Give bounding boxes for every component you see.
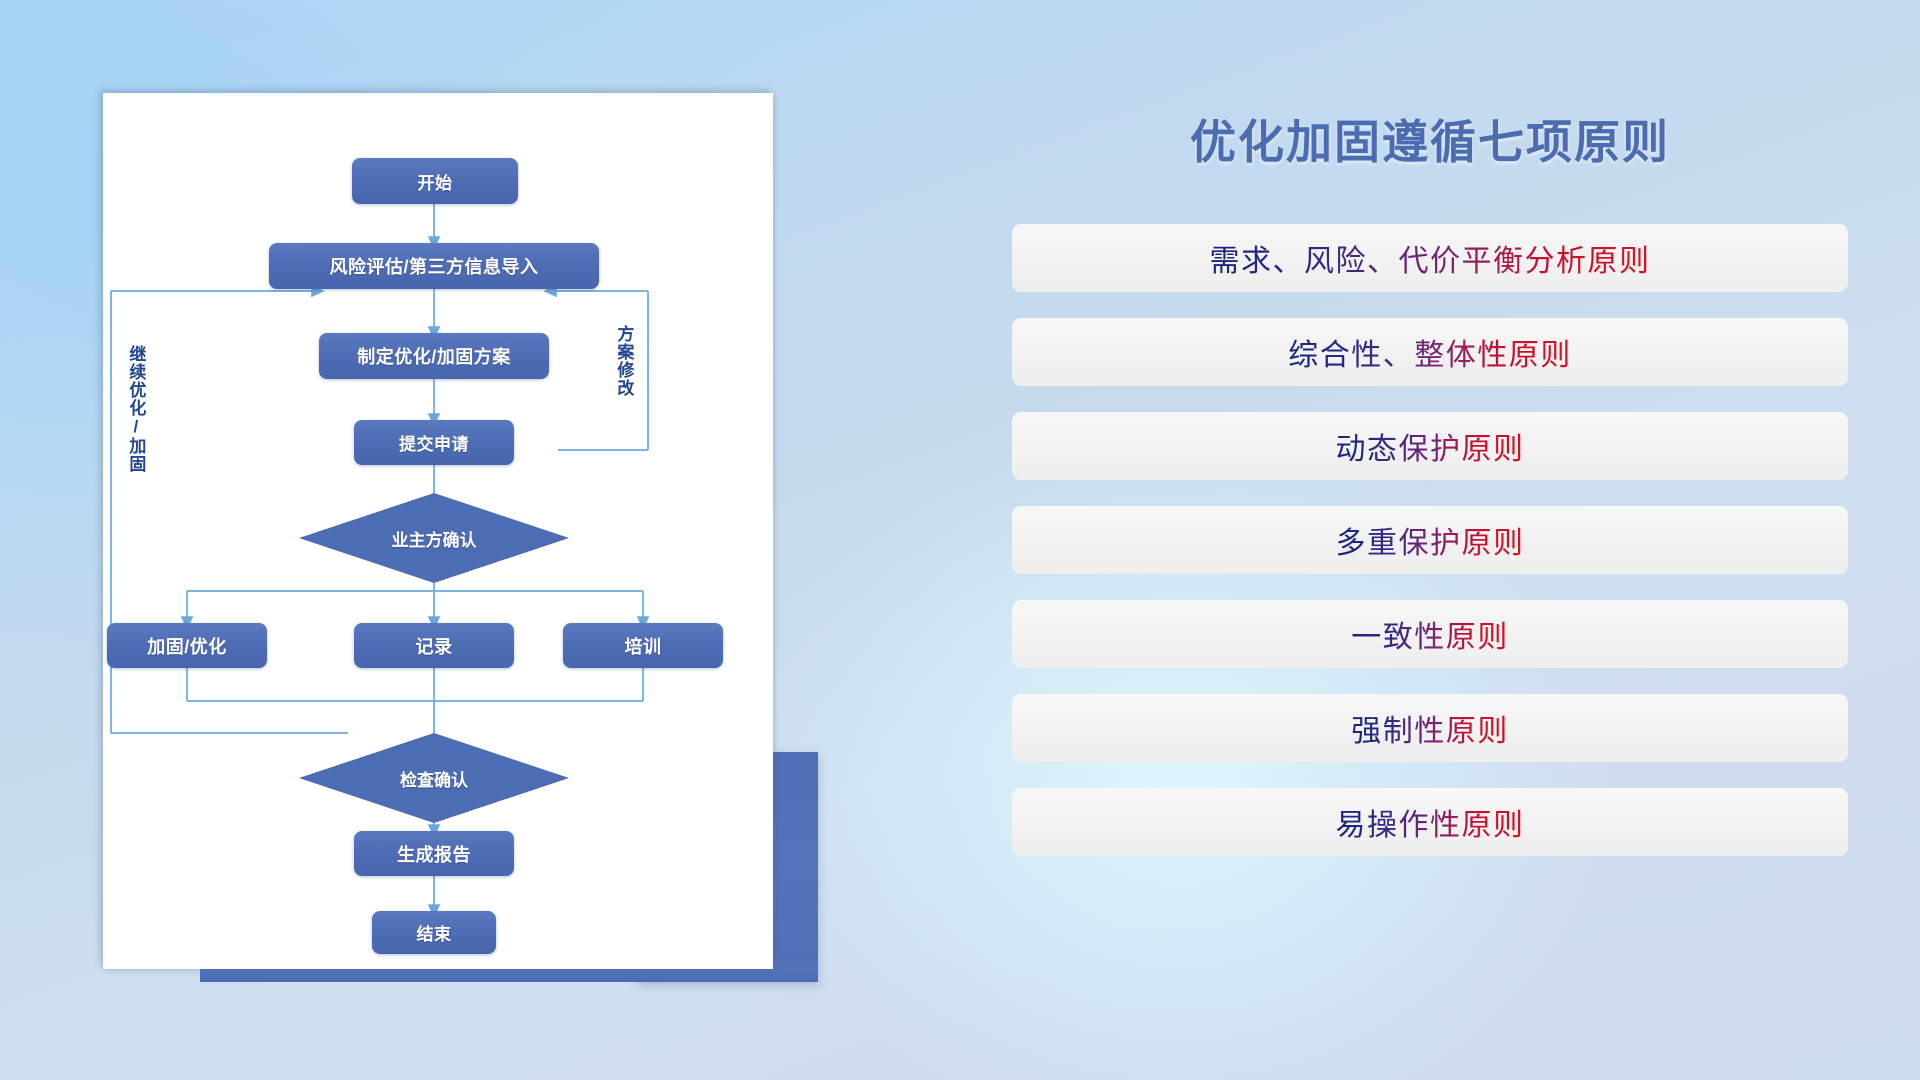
flow-node-start[interactable]: 开始 (352, 158, 518, 204)
principle-label: 综合性、整体性原则 (1288, 330, 1572, 374)
principle-card[interactable]: 易操作性原则 (1010, 786, 1850, 858)
principles-list: 需求、风险、代价平衡分析原则 综合性、整体性原则 动态保护原则 多重保护原则 一… (1010, 222, 1850, 858)
flow-node-label: 检查确认 (400, 766, 468, 791)
flow-node-label: 制定优化/加固方案 (357, 343, 511, 369)
flow-node-end[interactable]: 结束 (372, 911, 496, 954)
flow-node-label: 结束 (417, 920, 452, 945)
flow-node-submit[interactable]: 提交申请 (354, 420, 514, 465)
principle-card[interactable]: 一致性原则 (1010, 598, 1850, 670)
flowchart-panel: 开始 风险评估/第三方信息导入 制定优化/加固方案 提交申请 业主方确认 加固/… (103, 93, 773, 969)
flow-node-label: 记录 (416, 633, 453, 659)
principle-card[interactable]: 多重保护原则 (1010, 504, 1850, 576)
flow-node-owner-confirm[interactable]: 业主方确认 (299, 493, 569, 583)
principle-card[interactable]: 需求、风险、代价平衡分析原则 (1010, 222, 1850, 294)
flow-node-risk-assessment[interactable]: 风险评估/第三方信息导入 (269, 243, 599, 289)
flow-node-label: 开始 (418, 169, 453, 194)
principle-label: 需求、风险、代价平衡分析原则 (1210, 236, 1651, 280)
principle-card[interactable]: 强制性原则 (1010, 692, 1850, 764)
principle-card[interactable]: 动态保护原则 (1010, 410, 1850, 482)
flow-node-reinforce[interactable]: 加固/优化 (107, 623, 267, 668)
flow-node-plan[interactable]: 制定优化/加固方案 (319, 333, 549, 379)
flow-node-label: 生成报告 (397, 841, 471, 867)
principle-label: 一致性原则 (1351, 612, 1509, 656)
principle-label: 易操作性原则 (1336, 800, 1525, 844)
flow-node-label: 风险评估/第三方信息导入 (330, 253, 539, 279)
principle-label: 多重保护原则 (1336, 518, 1525, 562)
flow-node-report[interactable]: 生成报告 (354, 831, 514, 876)
principle-card[interactable]: 综合性、整体性原则 (1010, 316, 1850, 388)
edge-label-plan-revision: 方案修改 (615, 325, 632, 397)
flow-node-record[interactable]: 记录 (354, 623, 514, 668)
principle-label: 动态保护原则 (1336, 424, 1525, 468)
principles-panel: 优化加固遵循七项原则 需求、风险、代价平衡分析原则 综合性、整体性原则 动态保护… (1010, 80, 1850, 1010)
flow-node-label: 加固/优化 (147, 633, 227, 659)
slide-canvas: 开始 风险评估/第三方信息导入 制定优化/加固方案 提交申请 业主方确认 加固/… (0, 0, 1920, 1080)
flow-node-label: 培训 (625, 633, 662, 659)
flow-node-check-confirm[interactable]: 检查确认 (299, 733, 569, 823)
flow-node-label: 提交申请 (399, 430, 469, 455)
flow-node-label: 业主方确认 (392, 526, 477, 551)
edge-label-continue-optimize: 继续优化/加固 (127, 345, 144, 473)
flow-node-training[interactable]: 培训 (563, 623, 723, 668)
principles-title: 优化加固遵循七项原则 (1010, 106, 1850, 172)
principle-label: 强制性原则 (1351, 706, 1509, 750)
